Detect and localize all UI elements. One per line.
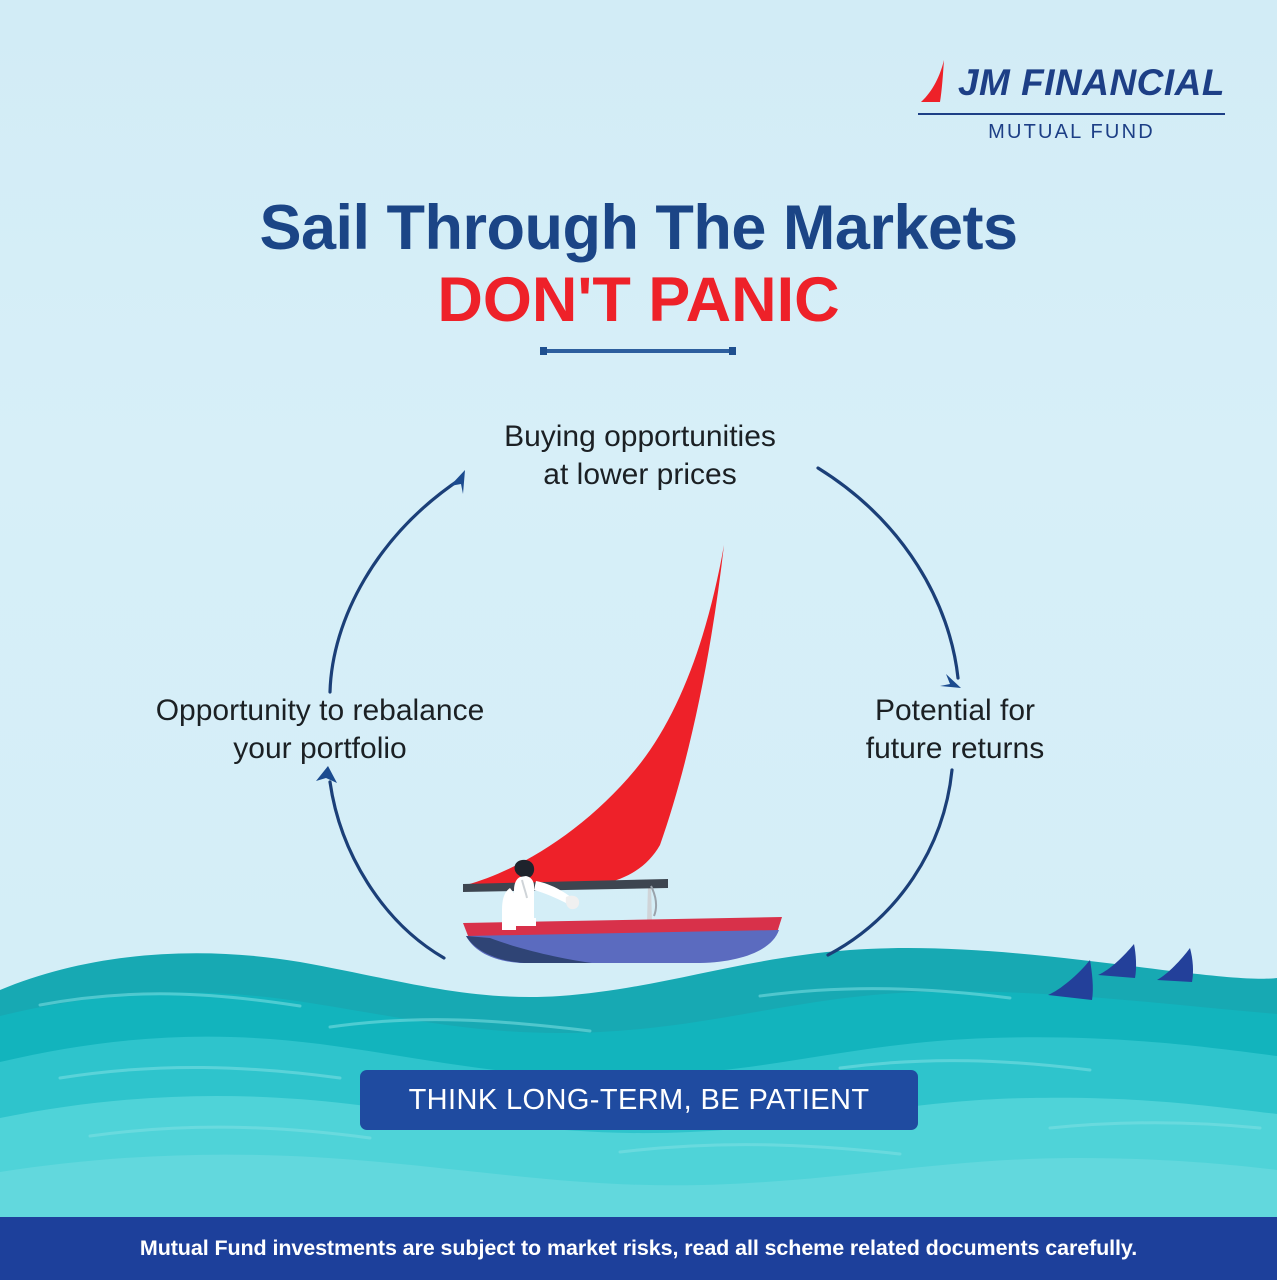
disclaimer-bar: Mutual Fund investments are subject to m… bbox=[0, 1217, 1277, 1280]
brand-subtitle: MUTUAL FUND bbox=[918, 121, 1225, 144]
headline-line-1: Sail Through The Markets bbox=[0, 196, 1277, 260]
disclaimer-text: Mutual Fund investments are subject to m… bbox=[140, 1236, 1137, 1261]
headline-underline bbox=[540, 349, 736, 353]
cta-label: THINK LONG-TERM, BE PATIENT bbox=[409, 1084, 870, 1117]
brand-logo: JM FINANCIAL MUTUAL FUND bbox=[918, 58, 1225, 144]
brand-name: JM FINANCIAL bbox=[958, 64, 1225, 101]
logo-divider bbox=[918, 113, 1225, 115]
cycle-label-future-returns: Potential forfuture returns bbox=[805, 692, 1105, 768]
sail-mark-icon bbox=[918, 58, 948, 106]
headline-line-2: DON'T PANIC bbox=[0, 266, 1277, 334]
cta-banner[interactable]: THINK LONG-TERM, BE PATIENT bbox=[360, 1070, 918, 1130]
cycle-arc-bottom-right bbox=[828, 770, 952, 955]
cycle-label-rebalance-portfolio: Opportunity to rebalanceyour portfolio bbox=[75, 692, 565, 768]
cycle-arc-bottom-left bbox=[330, 782, 444, 958]
logo-row: JM FINANCIAL bbox=[918, 58, 1225, 106]
cycle-arc-left-up bbox=[330, 478, 462, 692]
cycle-arrowhead-left bbox=[316, 766, 337, 783]
cycle-arc-top-right bbox=[818, 468, 958, 678]
cycle-label-buying-opportunities: Buying opportunitiesat lower prices bbox=[400, 418, 880, 494]
page-title: Sail Through The Markets DON'T PANIC bbox=[0, 196, 1277, 334]
poster-canvas: JM FINANCIAL MUTUAL FUND Sail Through Th… bbox=[0, 0, 1277, 1280]
